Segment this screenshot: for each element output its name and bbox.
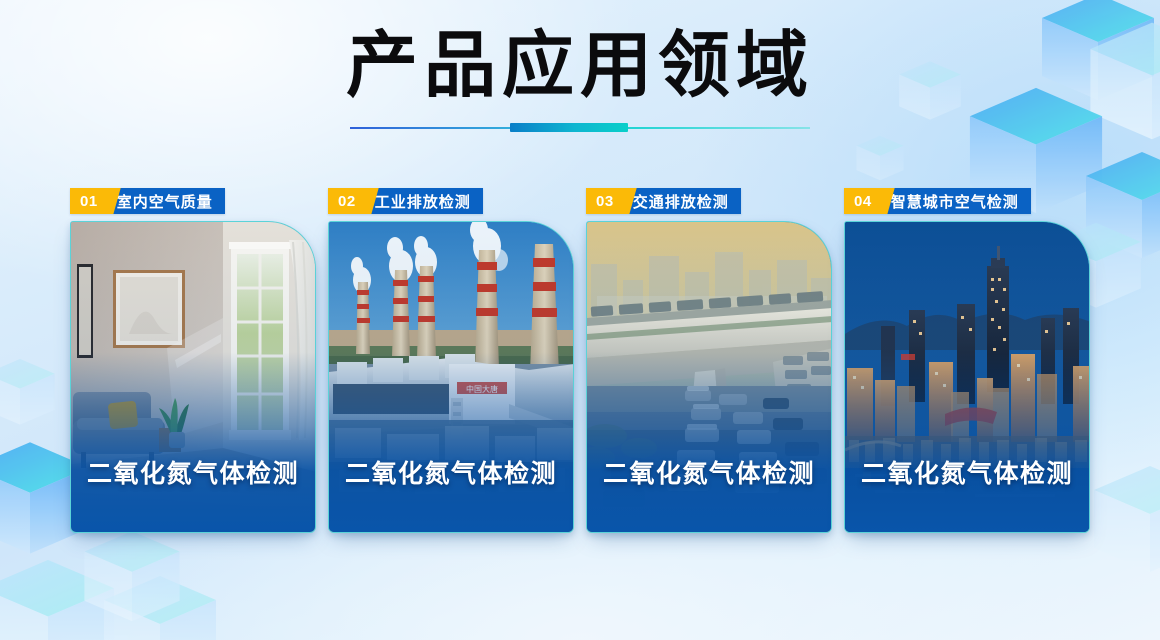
card-indoor-air-quality[interactable]: 01 室内空气质量 <box>70 188 316 533</box>
card-badge: 04 智慧城市空气检测 <box>844 188 1031 214</box>
card-badge: 03 交通排放检测 <box>586 188 741 214</box>
card-badge: 02 工业排放检测 <box>328 188 483 214</box>
card-panel[interactable]: 二氧化氮气体检测 <box>844 221 1090 533</box>
card-panel[interactable]: 中国大唐 <box>328 221 574 533</box>
card-number: 02 <box>328 188 365 214</box>
card-badge-label: 智慧城市空气检测 <box>885 188 1031 214</box>
card-number: 04 <box>844 188 881 214</box>
card-caption: 二氧化氮气体检测 <box>587 446 831 532</box>
card-badge-label: 工业排放检测 <box>369 188 483 214</box>
card-number: 01 <box>70 188 107 214</box>
underline-accent-segment <box>510 123 628 132</box>
poster-stage: 产品应用领域 01 室内空气质量 <box>0 0 1160 640</box>
card-traffic-emissions[interactable]: 03 交通排放检测 <box>586 188 832 533</box>
card-industrial-emissions[interactable]: 02 工业排放检测 <box>328 188 574 533</box>
card-badge-label: 交通排放检测 <box>627 188 741 214</box>
card-badge-label: 室内空气质量 <box>111 188 225 214</box>
card-caption: 二氧化氮气体检测 <box>71 446 315 532</box>
card-badge: 01 室内空气质量 <box>70 188 225 214</box>
card-caption: 二氧化氮气体检测 <box>845 446 1089 532</box>
page-title: 产品应用领域 <box>0 26 1160 106</box>
card-panel[interactable]: 二氧化氮气体检测 <box>586 221 832 533</box>
title-underline <box>350 122 810 134</box>
card-number: 03 <box>586 188 623 214</box>
card-caption: 二氧化氮气体检测 <box>329 446 573 532</box>
cards-row: 01 室内空气质量 <box>0 188 1160 538</box>
header: 产品应用领域 <box>0 0 1160 134</box>
card-smart-city-air[interactable]: 04 智慧城市空气检测 <box>844 188 1090 533</box>
card-panel[interactable]: 二氧化氮气体检测 <box>70 221 316 533</box>
